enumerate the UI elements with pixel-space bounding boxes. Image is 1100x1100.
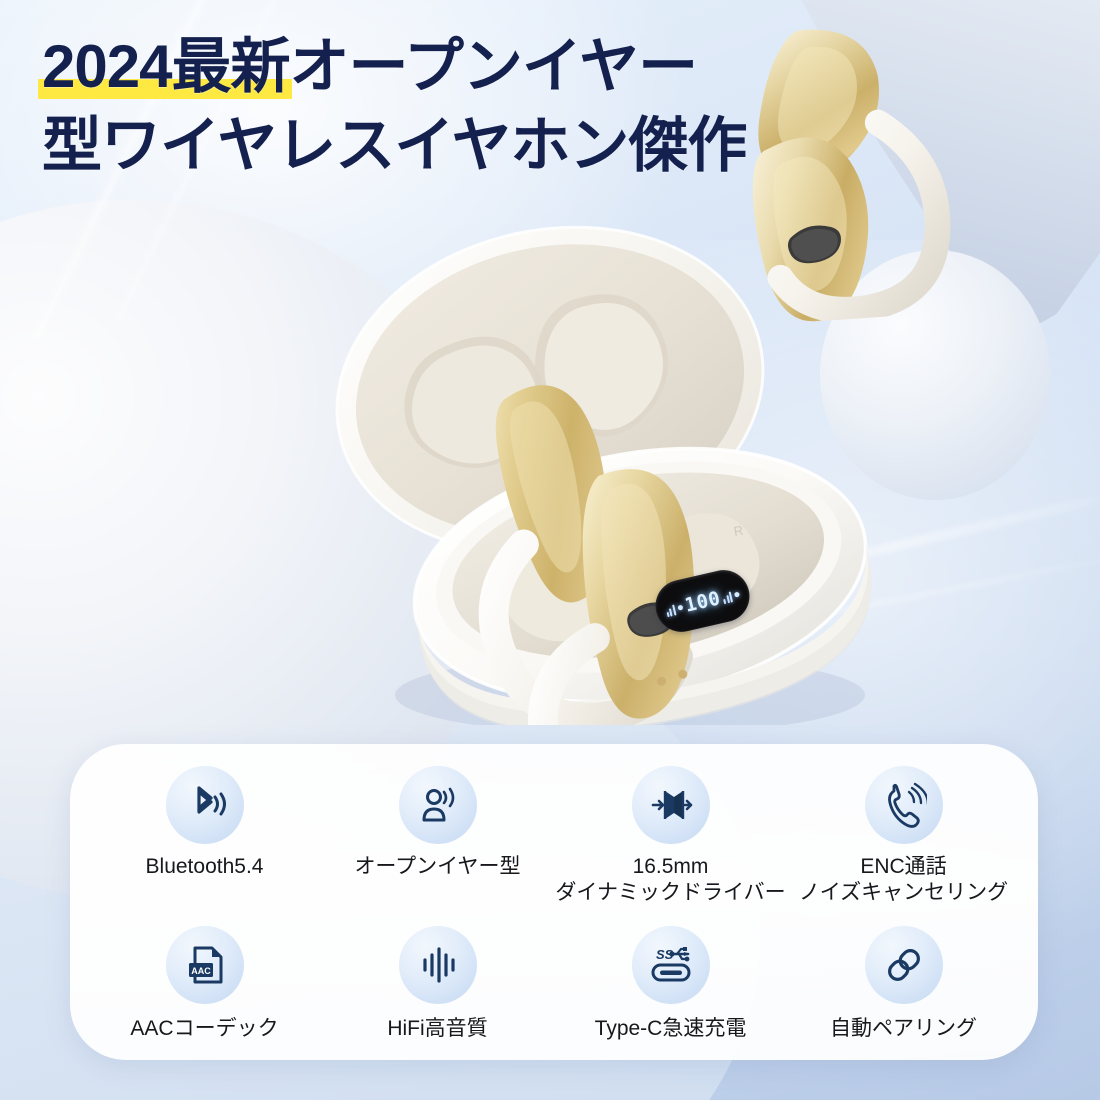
- feature-label: 16.5mm ダイナミックドライバー: [555, 854, 785, 905]
- usb-type-c-icon: SS: [632, 926, 710, 1004]
- feature-driver[interactable]: 16.5mm ダイナミックドライバー: [555, 766, 787, 905]
- feature-open-ear[interactable]: オープンイヤー型: [322, 766, 554, 880]
- headline-highlight: 2024最新: [42, 36, 289, 97]
- feature-label: ENC通話 ノイズキャンセリング: [799, 854, 1008, 905]
- feature-label: Type-C急速充電: [595, 1016, 747, 1042]
- bluetooth-icon: [166, 766, 244, 844]
- feature-aac-codec[interactable]: AAC AACコーデック: [89, 926, 321, 1042]
- feature-row-1: Bluetooth5.4 オープンイヤー型: [88, 766, 1020, 905]
- led-dot-icon: [677, 604, 683, 610]
- led-dot-icon: [734, 591, 740, 597]
- feature-row-2: AAC AACコーデック: [88, 926, 1020, 1042]
- feature-hifi[interactable]: HiFi高音質: [322, 926, 554, 1042]
- headline-line-2: 型ワイヤレスイヤホン傑作: [42, 115, 746, 176]
- feature-label: AACコーデック: [130, 1016, 278, 1042]
- feature-type-c-charging[interactable]: SS Type-C急速充電: [555, 926, 787, 1042]
- chain-link-icon: [865, 926, 943, 1004]
- headline-line-1: 2024最新オープンイヤー: [42, 36, 746, 97]
- headline: 2024最新オープンイヤー 型ワイヤレスイヤホン傑作: [42, 36, 746, 176]
- phone-call-waves-icon: [865, 766, 943, 844]
- floating-earbud-product-image: [725, 10, 995, 327]
- feature-label: HiFi高音質: [387, 1016, 487, 1042]
- headline-line-1-rest: オープンイヤー: [289, 33, 697, 100]
- feature-highlights-card: Bluetooth5.4 オープンイヤー型: [70, 744, 1038, 1060]
- battery-bars-icon: [664, 602, 676, 617]
- feature-label: オープンイヤー型: [354, 854, 520, 880]
- feature-enc-call[interactable]: ENC通話 ノイズキャンセリング: [788, 766, 1020, 905]
- feature-auto-pairing[interactable]: 自動ペアリング: [788, 926, 1020, 1042]
- audio-waveform-icon: [399, 926, 477, 1004]
- open-ear-person-icon: [399, 766, 477, 844]
- feature-label: Bluetooth5.4: [146, 854, 264, 880]
- led-battery-value: 100: [683, 587, 723, 616]
- aac-file-icon: AAC: [166, 926, 244, 1004]
- svg-text:AAC: AAC: [191, 966, 211, 976]
- feature-label: 自動ペアリング: [830, 1016, 977, 1042]
- product-banner: R: [0, 0, 1100, 1100]
- feature-bluetooth[interactable]: Bluetooth5.4: [89, 766, 321, 880]
- dynamic-driver-icon: [632, 766, 710, 844]
- battery-bars-icon: [722, 589, 734, 604]
